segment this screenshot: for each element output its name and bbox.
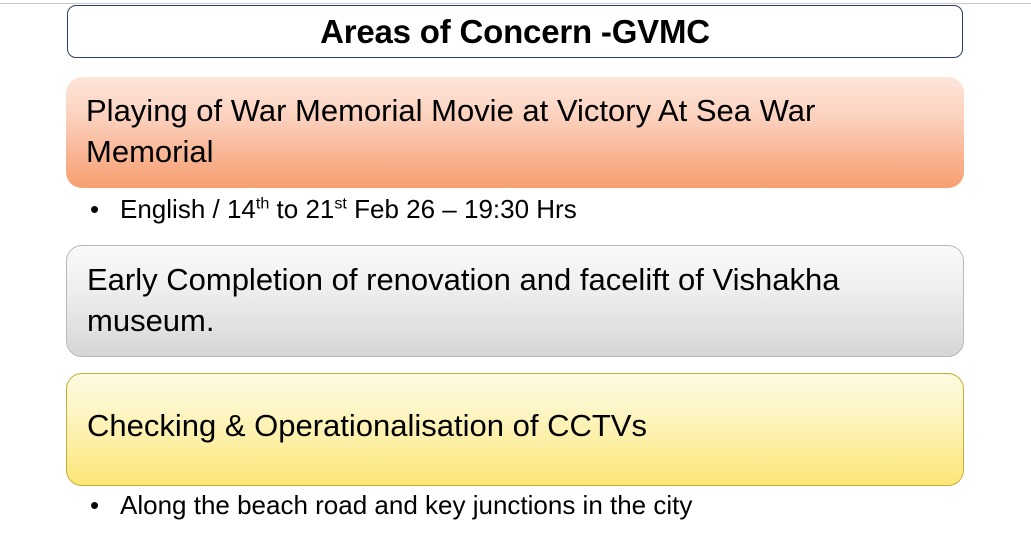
- slide-title-box: Areas of Concern -GVMC: [67, 5, 963, 58]
- bullet-dot-icon: •: [90, 492, 120, 518]
- bullet-dot-icon: •: [90, 196, 120, 222]
- bullet-text-cctv-locations: Along the beach road and key junctions i…: [120, 491, 692, 520]
- bullet-text-run: to 21: [269, 194, 334, 224]
- bullet-text-movie-schedule: English / 14th to 21st Feb 26 – 19:30 Hr…: [120, 195, 577, 224]
- top-divider-rule: [0, 3, 1031, 4]
- section-heading-cctv-operationalisation: Checking & Operationalisation of CCTVs: [67, 406, 661, 447]
- ordinal-suffix: th: [256, 194, 269, 212]
- section-box-war-memorial-movie: Playing of War Memorial Movie at Victory…: [66, 77, 964, 188]
- page-title: Areas of Concern -GVMC: [320, 13, 710, 51]
- bullet-text-run: English / 14: [120, 194, 256, 224]
- bullet-item-movie-schedule: • English / 14th to 21st Feb 26 – 19:30 …: [90, 195, 577, 224]
- section-heading-vishakha-museum: Early Completion of renovation and facel…: [67, 260, 963, 341]
- ordinal-suffix: st: [334, 194, 347, 212]
- section-box-cctv-operationalisation: Checking & Operationalisation of CCTVs: [66, 373, 964, 486]
- bullet-item-cctv-locations: • Along the beach road and key junctions…: [90, 491, 692, 520]
- bullet-text-run: Feb 26 – 19:30 Hrs: [347, 194, 577, 224]
- section-box-vishakha-museum: Early Completion of renovation and facel…: [66, 245, 964, 357]
- section-heading-war-memorial-movie: Playing of War Memorial Movie at Victory…: [66, 91, 964, 172]
